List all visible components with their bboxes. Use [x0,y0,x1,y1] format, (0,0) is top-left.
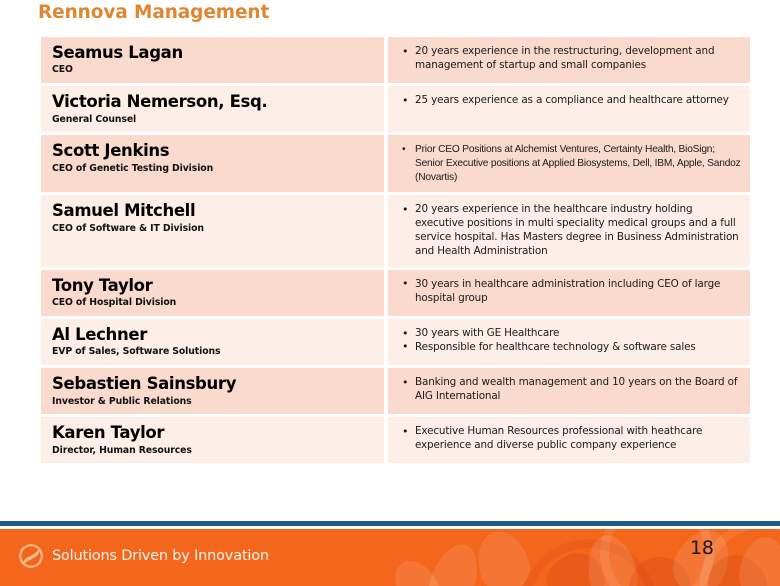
experience-bullet-list: •Executive Human Resources professional … [400,425,744,453]
rennova-swirl-logo-icon [18,543,44,569]
list-item: •Responsible for healthcare technology &… [400,341,744,355]
table-row: Tony TaylorCEO of Hospital Division•30 y… [41,270,750,316]
person-cell: Karen TaylorDirector, Human Resources [41,417,384,463]
experience-bullet-list: •Banking and wealth management and 10 ye… [400,376,744,404]
experience-cell: •20 years experience in the restructurin… [388,37,750,83]
experience-cell: •20 years experience in the healthcare i… [388,195,750,267]
decorative-petal [581,531,643,586]
bullet-dot-icon: • [402,327,408,342]
person-title: CEO of Hospital Division [52,297,384,309]
bullet-text: Banking and wealth management and 10 yea… [415,376,737,402]
bullet-dot-icon: • [402,340,408,355]
bullet-dot-icon: • [402,94,408,109]
experience-bullet-list: •25 years experience as a compliance and… [400,94,744,108]
person-cell: Seamus LaganCEO [41,37,384,83]
list-item: •Banking and wealth management and 10 ye… [400,376,744,404]
decorative-petal [625,551,697,586]
person-name: Samuel Mitchell [52,202,384,220]
footer-tagline: Solutions Driven by Innovation [52,548,269,564]
experience-cell: •30 years in healthcare administration i… [388,270,750,316]
decorative-ring [520,539,658,586]
experience-bullet-list: •20 years experience in the healthcare i… [400,203,744,259]
list-item: •25 years experience as a compliance and… [400,94,744,108]
bullet-text: Responsible for healthcare technology & … [415,341,696,353]
person-name: Seamus Lagan [52,44,384,62]
table-row: Karen TaylorDirector, Human Resources•Ex… [41,417,750,463]
list-item: •20 years experience in the healthcare i… [400,203,744,259]
experience-cell: •Executive Human Resources professional … [388,417,750,463]
page-title: Rennova Management [38,2,269,23]
footer-divider-rule [0,521,780,526]
table-row: Sebastien SainsburyInvestor & Public Rel… [41,368,750,414]
experience-cell: •Banking and wealth management and 10 ye… [388,368,750,414]
bullet-dot-icon: • [402,425,408,440]
person-name: Sebastien Sainsbury [52,375,384,393]
person-title: CEO of Software & IT Division [52,223,384,235]
decorative-petal [470,529,537,586]
decorative-petal [386,552,447,586]
list-item: •20 years experience in the restructurin… [400,45,744,73]
person-title: Director, Human Resources [52,445,384,457]
experience-bullet-list: •20 years experience in the restructurin… [400,45,744,73]
person-cell: Tony TaylorCEO of Hospital Division [41,270,384,316]
person-cell: Al LechnerEVP of Sales, Software Solutio… [41,319,384,365]
person-title: General Counsel [52,114,384,126]
person-title: Investor & Public Relations [52,396,384,408]
experience-cell: •25 years experience as a compliance and… [388,86,750,132]
page-number: 18 [690,537,714,559]
table-row: Scott JenkinsCEO of Genetic Testing Divi… [41,135,750,192]
person-name: Karen Taylor [52,424,384,442]
list-item: •Prior CEO Positions at Alchemist Ventur… [400,143,744,184]
person-name: Tony Taylor [52,277,384,295]
bullet-dot-icon: • [402,143,405,157]
person-cell: Scott JenkinsCEO of Genetic Testing Divi… [41,135,384,192]
experience-bullet-list: •30 years in healthcare administration i… [400,278,744,306]
bullet-text: 30 years in healthcare administration in… [415,278,720,304]
list-item: •Executive Human Resources professional … [400,425,744,453]
person-title: CEO of Genetic Testing Division [52,163,384,175]
decorative-petal [421,538,486,586]
bullet-text: 20 years experience in the restructuring… [415,45,714,71]
person-cell: Sebastien SainsburyInvestor & Public Rel… [41,368,384,414]
table-row: Seamus LaganCEO•20 years experience in t… [41,37,750,83]
bullet-text: 30 years with GE Healthcare [415,327,559,339]
bullet-text: Prior CEO Positions at Alchemist Venture… [415,144,741,182]
bullet-dot-icon: • [402,376,408,391]
person-title: CEO [52,64,384,76]
person-name: Victoria Nemerson, Esq. [52,93,384,111]
bullet-text: Executive Human Resources professional w… [415,425,702,451]
list-item: •30 years in healthcare administration i… [400,278,744,306]
experience-bullet-list: •Prior CEO Positions at Alchemist Ventur… [400,143,744,184]
person-cell: Samuel MitchellCEO of Software & IT Divi… [41,195,384,267]
bullet-text: 25 years experience as a compliance and … [415,94,729,106]
table-row: Samuel MitchellCEO of Software & IT Divi… [41,195,750,267]
slide-canvas: Rennova Management Seamus LaganCEO•20 ye… [0,0,780,586]
bullet-dot-icon: • [402,203,408,218]
management-table: Seamus LaganCEO•20 years experience in t… [41,37,750,463]
decorative-petal [736,534,780,586]
experience-cell: •Prior CEO Positions at Alchemist Ventur… [388,135,750,192]
person-cell: Victoria Nemerson, Esq.General Counsel [41,86,384,132]
experience-bullet-list: •30 years with GE Healthcare•Responsible… [400,327,744,355]
bullet-dot-icon: • [402,277,408,292]
person-title: EVP of Sales, Software Solutions [52,346,384,358]
bullet-dot-icon: • [402,45,408,60]
table-row: Victoria Nemerson, Esq.General Counsel•2… [41,86,750,132]
table-row: Al LechnerEVP of Sales, Software Solutio… [41,319,750,365]
decorative-petal [537,542,616,586]
experience-cell: •30 years with GE Healthcare•Responsible… [388,319,750,365]
person-name: Scott Jenkins [52,142,384,160]
person-name: Al Lechner [52,326,384,344]
management-table-body: Seamus LaganCEO•20 years experience in t… [41,37,750,463]
bullet-text: 20 years experience in the healthcare in… [415,203,739,257]
list-item: •30 years with GE Healthcare [400,327,744,341]
